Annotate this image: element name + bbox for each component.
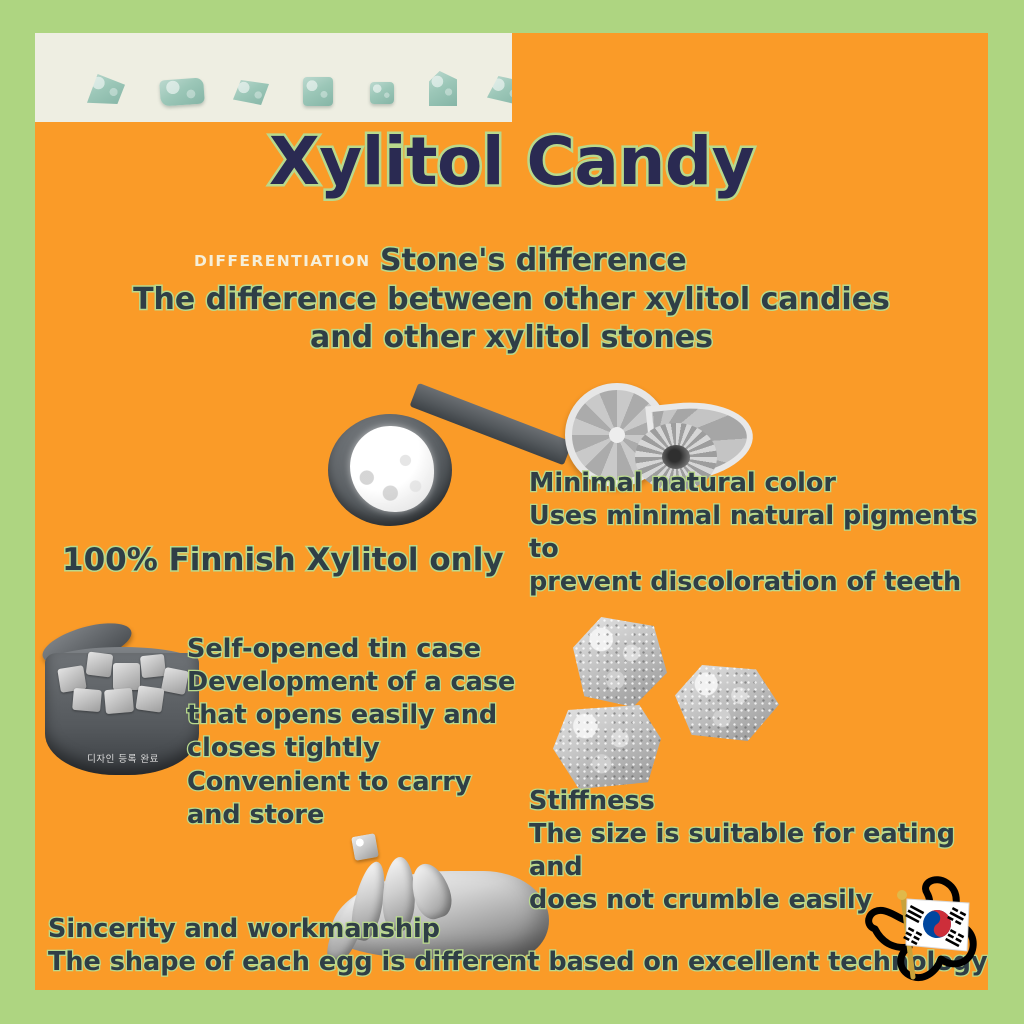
tin-cube: [72, 688, 102, 712]
eyebrow-label: DIFFERENTIATION: [194, 252, 371, 270]
candy-piece-7: [487, 76, 512, 105]
candy-piece-3: [233, 80, 269, 105]
spoon-bowl: [328, 414, 452, 526]
flower-core: [662, 445, 690, 469]
candy-piece-2: [159, 77, 205, 106]
xylitol-powder: [350, 426, 434, 512]
korean-flag-icon: [903, 899, 969, 951]
stone-candy-1: [573, 617, 667, 707]
feature-text-minimal-color: Minimal natural color Uses minimal natur…: [529, 467, 988, 600]
feature-text-finnish-xylitol: 100% Finnish Xylitol only: [62, 540, 504, 580]
subhead-line-2: The difference between other xylitol can…: [35, 281, 988, 319]
feature-text-sincerity: Sincerity and workmanship The shape of e…: [48, 913, 988, 979]
poster-root: Xylitol Candy DIFFERENTIATION Stone's di…: [0, 0, 1024, 1024]
tin-design-registration-stamp: 디자인 등록 완료: [73, 751, 173, 765]
poster-canvas: Xylitol Candy DIFFERENTIATION Stone's di…: [35, 33, 988, 990]
korean-flag-muscle-badge: [857, 873, 988, 990]
subhead-comparison: The difference between other xylitol can…: [35, 281, 988, 357]
candy-piece-4: [303, 77, 333, 106]
candy-row: [35, 33, 512, 122]
tin-cube: [161, 667, 189, 695]
candy-piece-6: [429, 71, 457, 106]
tin-cube: [86, 652, 114, 678]
page-title: Xylitol Candy: [35, 129, 988, 195]
stone-candy-3: [553, 705, 661, 789]
subhead-stones-difference: Stone's difference: [380, 243, 687, 280]
stone-candy-2: [675, 665, 779, 741]
xylitol-candy-row-photo: [35, 33, 512, 122]
flag-pole-finial: [897, 890, 907, 900]
tin-cube: [135, 685, 164, 712]
stone-candies-icon: [553, 613, 793, 793]
tin-candy-cubes: [57, 649, 189, 711]
feature-text-tin-case: Self-opened tin case Development of a ca…: [187, 633, 515, 832]
subhead-line-3: and other xylitol stones: [35, 319, 988, 357]
flicked-candy-cube: [351, 833, 379, 861]
badge-svg: [857, 873, 988, 990]
tin-cube: [140, 654, 166, 678]
tin-cube: [104, 688, 134, 714]
tin-case-icon: 디자인 등록 완료: [35, 627, 210, 787]
tin-cube: [113, 663, 140, 690]
candy-piece-5: [370, 82, 394, 104]
candy-piece-1: [87, 74, 125, 104]
